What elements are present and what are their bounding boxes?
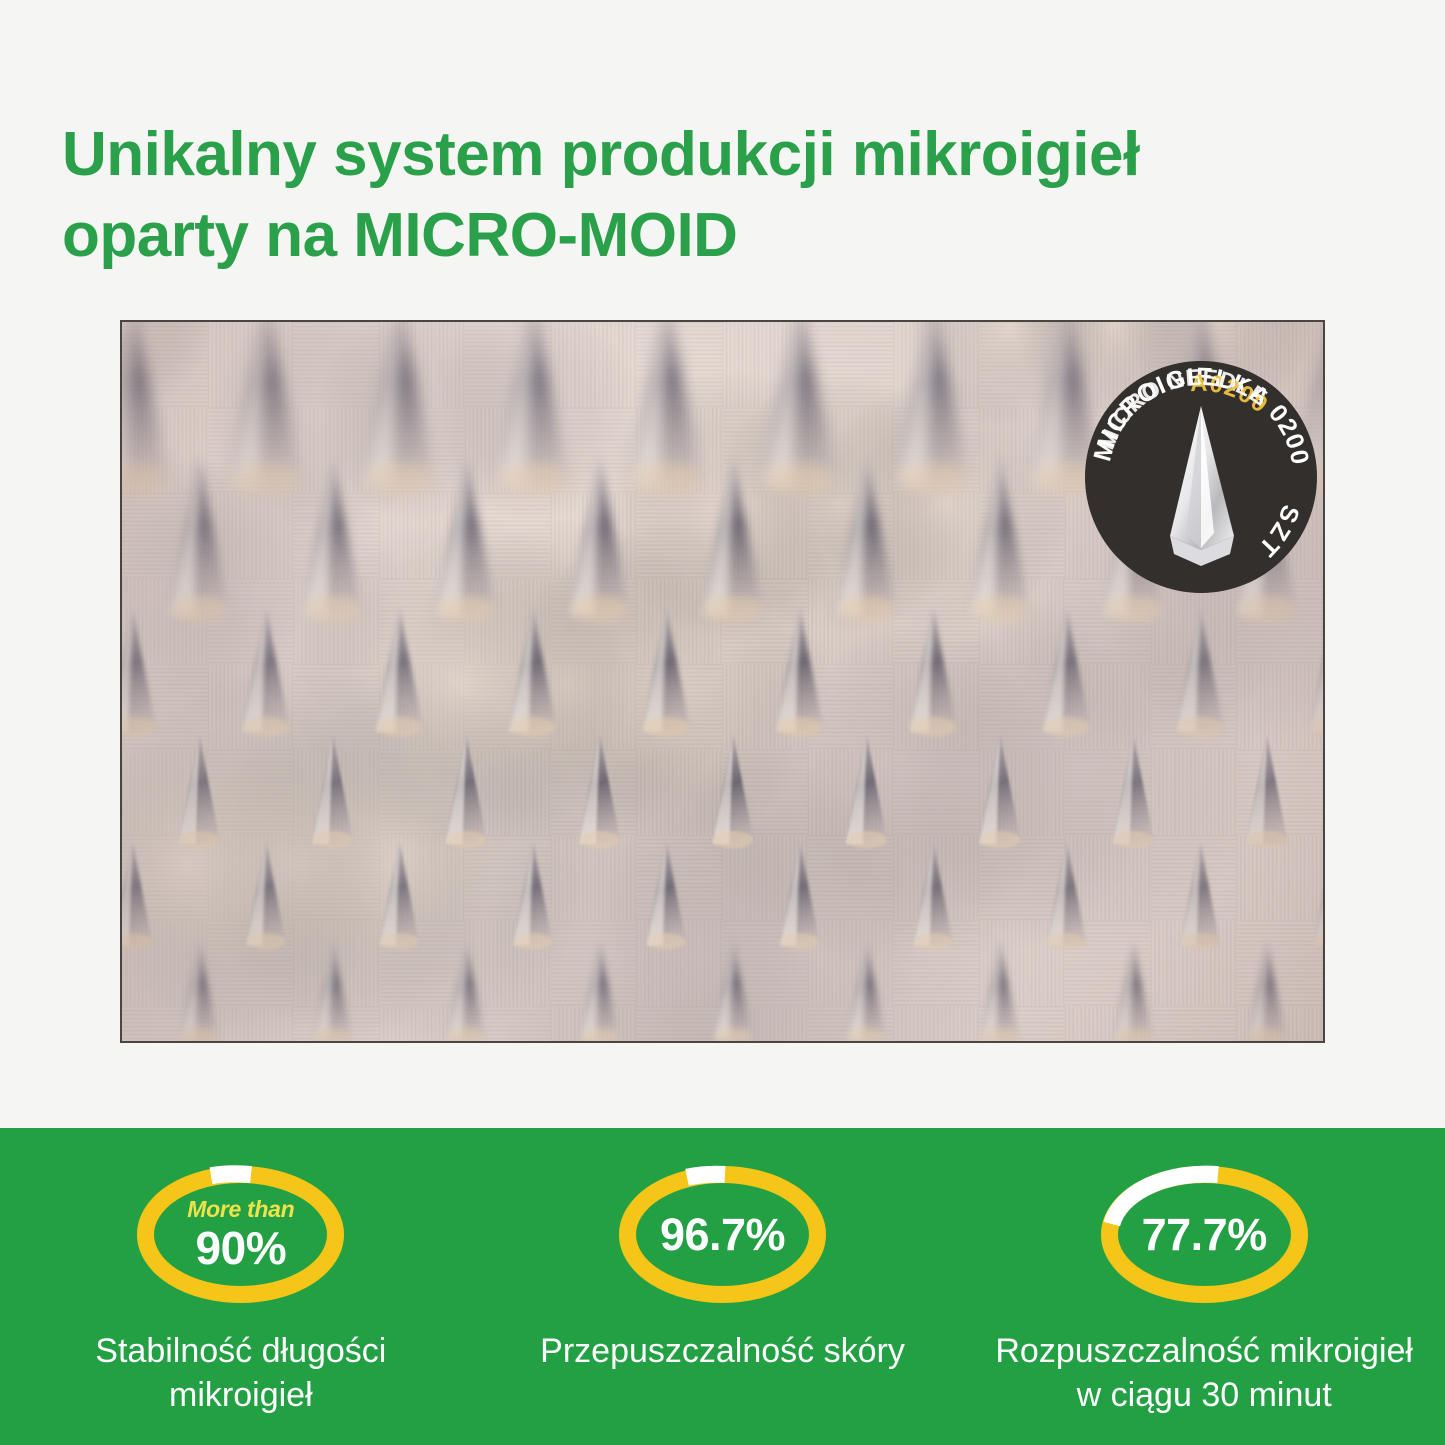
- page-title: Unikalny system produkcji mikroigieł opa…: [62, 114, 1382, 278]
- stat-permeability: 96.7% Przepuszczalność skóry: [482, 1128, 964, 1445]
- stat-dissolution-ring-svg: [1097, 1162, 1312, 1307]
- stat-dissolution-ring: 77.7%: [1097, 1162, 1312, 1307]
- microneedle-badge: MICROIGIEŁKA 0200 A0200 MICRO NEEDLE SZT: [1082, 358, 1320, 596]
- stat-stability-ring-svg: [133, 1162, 348, 1307]
- promo-page: Unikalny system produkcji mikroigieł opa…: [0, 0, 1445, 1445]
- stats-footer: More than 90% Stabilność długości mikroi…: [0, 1128, 1445, 1445]
- stat-permeability-label: Przepuszczalność skóry: [508, 1329, 938, 1373]
- stat-dissolution: 77.7% Rozpuszczalność mikroigieł w ciągu…: [963, 1128, 1445, 1445]
- stat-dissolution-label: Rozpuszczalność mikroigieł w ciągu 30 mi…: [989, 1329, 1419, 1417]
- stat-stability: More than 90% Stabilność długości mikroi…: [0, 1128, 482, 1445]
- stat-permeability-ring-svg: [615, 1162, 830, 1307]
- stat-permeability-ring: 96.7%: [615, 1162, 830, 1307]
- stats-row: More than 90% Stabilność długości mikroi…: [0, 1128, 1445, 1445]
- stat-stability-ring: More than 90%: [133, 1162, 348, 1307]
- stat-stability-label: Stabilność długości mikroigieł: [26, 1329, 456, 1417]
